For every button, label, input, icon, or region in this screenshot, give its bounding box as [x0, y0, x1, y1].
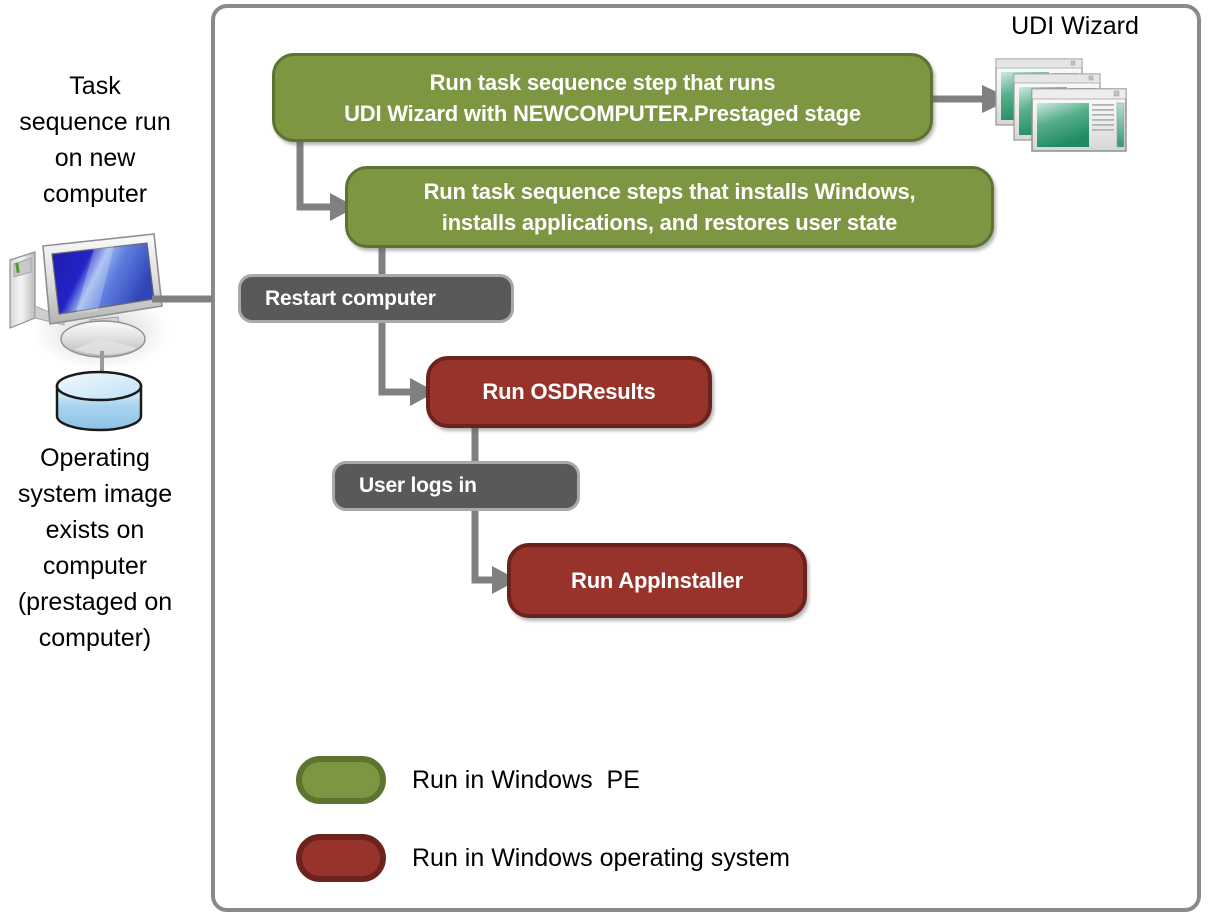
- node-run-ts-steps-install[interactable]: Run task sequence steps that installs Wi…: [345, 166, 994, 248]
- node-label: Run AppInstaller: [511, 566, 803, 596]
- node-run-appinstaller[interactable]: Run AppInstaller: [507, 543, 807, 618]
- node-label: Run task sequence steps that installs Wi…: [348, 176, 991, 238]
- left-caption-os-image: Operating system image exists on compute…: [0, 440, 190, 656]
- node-user-logs-in[interactable]: User logs in: [332, 461, 580, 511]
- node-label: Run task sequence step that runs UDI Wiz…: [275, 67, 930, 129]
- legend-item-windows-os: Run in Windows operating system: [296, 834, 790, 882]
- stacked-windows-icon: [992, 55, 1132, 155]
- legend-label: Run in Windows PE: [412, 766, 640, 795]
- legend-label: Run in Windows operating system: [412, 844, 790, 873]
- legend-item-windows-pe: Run in Windows PE: [296, 756, 640, 804]
- node-label: User logs in: [359, 473, 577, 499]
- node-run-osdresults[interactable]: Run OSDResults: [426, 356, 712, 428]
- udi-wizard-caption: UDI Wizard: [975, 12, 1175, 41]
- legend-swatch-green: [296, 756, 386, 804]
- node-run-ts-step-udi-wizard[interactable]: Run task sequence step that runs UDI Wiz…: [272, 53, 933, 142]
- diagram-canvas: Task sequence run on new computer: [0, 0, 1210, 919]
- legend-swatch-red: [296, 834, 386, 882]
- computer-with-disk-icon: [2, 232, 192, 432]
- left-caption-task-sequence: Task sequence run on new computer: [2, 68, 188, 212]
- node-label: Run OSDResults: [430, 377, 708, 407]
- node-restart-computer[interactable]: Restart computer: [238, 274, 514, 323]
- node-label: Restart computer: [265, 286, 511, 312]
